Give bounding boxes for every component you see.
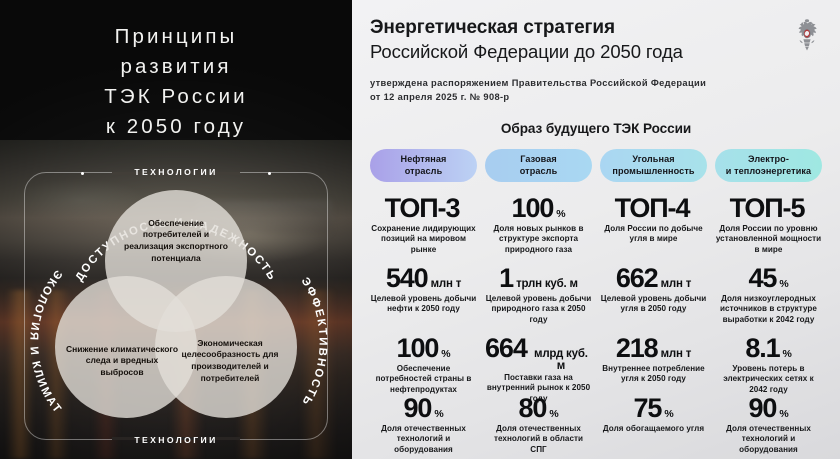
metric-coal-2-caption: Целевой уровень добычи угля в 2050 году xyxy=(600,294,707,315)
metric-gas-2-unit: трлн куб. м xyxy=(516,278,578,290)
metric-oil-2-unit: млн т xyxy=(431,278,462,290)
badge-coal-line-1: Угольная xyxy=(632,154,674,165)
badge-power-line-1: Электро- xyxy=(748,154,789,165)
metric-column-power: ТОП-5 Доля России по уровню установленно… xyxy=(715,193,822,443)
metric-oil-4-caption: Доля отечественных технологий и оборудов… xyxy=(370,424,477,455)
title-line-1: Принципы xyxy=(0,22,352,52)
metric-coal-4-value: 75 xyxy=(634,393,662,423)
metric-coal-3-unit: млн т xyxy=(661,348,692,360)
metric-power-4-value: 90 xyxy=(749,393,777,423)
badge-oil[interactable]: Нефтяная отрасль xyxy=(370,149,477,182)
metric-gas-2-value: 1 xyxy=(499,263,513,293)
frame-label-bottom: ТЕХНОЛОГИИ xyxy=(124,435,227,445)
metric-gas-3-value: 664 xyxy=(485,333,527,363)
metric-oil-2-value: 540 xyxy=(386,263,428,293)
metric-oil-1-caption: Сохранение лидирующих позиций на мировом… xyxy=(370,224,477,255)
venn-circle-availability-text: Обеспечение потребителей и реализация эк… xyxy=(105,218,247,264)
strategy-title-line-1: Энергетическая стратегия xyxy=(370,16,822,40)
metric-coal-1-value: ТОП-4 xyxy=(615,193,690,223)
metric-power-4: 90% Доля отечественных технологий и обор… xyxy=(715,393,822,443)
metric-coal-3-caption: Внутреннее потребление угля к 2050 году xyxy=(600,364,707,385)
industry-badges: Нефтяная отрасль Газовая отрасль Угольна… xyxy=(370,149,822,182)
metric-gas-2: 1трлн куб. м Целевой уровень добычи прир… xyxy=(485,263,592,333)
metric-oil-1: ТОП-3 Сохранение лидирующих позиций на м… xyxy=(370,193,477,263)
metric-coal-4-unit: % xyxy=(664,408,673,420)
metric-gas-3: 664млрд куб. м Поставки газа на внутренн… xyxy=(485,333,592,393)
badge-gas[interactable]: Газовая отрасль xyxy=(485,149,592,182)
left-panel: Принципы развития ТЭК России к 2050 году… xyxy=(0,0,352,459)
metric-gas-1-unit: % xyxy=(556,208,565,220)
badge-power[interactable]: Электро- и теплоэнергетика xyxy=(715,149,822,182)
title-line-2: развития xyxy=(0,52,352,82)
metric-coal-3: 218млн т Внутреннее потребление угля к 2… xyxy=(600,333,707,393)
metric-coal-1-caption: Доля России по добыче угля в мире xyxy=(600,224,707,245)
strategy-subtitle-line-1: утверждена распоряжением Правительства Р… xyxy=(370,77,822,91)
badge-gas-line-1: Газовая xyxy=(520,154,557,165)
strategy-subtitle-line-2: от 12 апреля 2025 г. № 908-р xyxy=(370,91,822,105)
metric-coal-4-caption: Доля обогащаемого угля xyxy=(600,424,707,434)
title-line-3: ТЭК России xyxy=(0,82,352,112)
frame-dot-right xyxy=(268,172,271,175)
metric-coal-3-value: 218 xyxy=(616,333,658,363)
badge-power-line-2: и теплоэнергетика xyxy=(726,166,811,177)
metric-oil-1-value: ТОП-3 xyxy=(385,193,460,223)
technology-frame: ТЕХНОЛОГИИ ТЕХНОЛОГИИ xyxy=(24,172,328,440)
metric-gas-3-unit: млрд куб. м xyxy=(530,348,592,372)
infographic-root: Принципы развития ТЭК России к 2050 году… xyxy=(0,0,840,459)
badge-oil-line-1: Нефтяная xyxy=(401,154,447,165)
metric-power-4-unit: % xyxy=(779,408,788,420)
metric-columns: ТОП-3 Сохранение лидирующих позиций на м… xyxy=(370,193,822,443)
strategy-title: Энергетическая стратегия Российской Феде… xyxy=(370,16,822,64)
metric-gas-1: 100% Доля новых рынков в структуре экспо… xyxy=(485,193,592,263)
metric-coal-4: 75% Доля обогащаемого угля xyxy=(600,393,707,443)
metric-power-2-value: 45 xyxy=(749,263,777,293)
metric-gas-2-caption: Целевой уровень добычи природного газа к… xyxy=(485,294,592,325)
metric-oil-3: 100% Обеспечение потребностей страны в н… xyxy=(370,333,477,393)
metric-coal-1: ТОП-4 Доля России по добыче угля в мире xyxy=(600,193,707,263)
metric-oil-4-value: 90 xyxy=(404,393,432,423)
metric-power-2-unit: % xyxy=(779,278,788,290)
venn-circle-economics-text: Экономическая целесообразность для произ… xyxy=(159,338,301,384)
metric-oil-2: 540млн т Целевой уровень добычи нефти к … xyxy=(370,263,477,333)
metric-power-2-caption: Доля низкоуглеродных источников в структ… xyxy=(715,294,822,325)
metric-oil-3-unit: % xyxy=(441,348,450,360)
metric-power-1-caption: Доля России по уровню установленной мощн… xyxy=(715,224,822,255)
metric-column-oil: ТОП-3 Сохранение лидирующих позиций на м… xyxy=(370,193,477,443)
badge-coal[interactable]: Угольная промышленность xyxy=(600,149,707,182)
metric-gas-4: 80% Доля отечественных технологий в обла… xyxy=(485,393,592,443)
metric-power-1-value: ТОП-5 xyxy=(730,193,805,223)
metric-oil-4-unit: % xyxy=(434,408,443,420)
metric-power-3-unit: % xyxy=(783,348,792,360)
russian-coat-of-arms-icon xyxy=(792,18,822,54)
strategy-subtitle: утверждена распоряжением Правительства Р… xyxy=(370,77,822,104)
right-panel: Энергетическая стратегия Российской Феде… xyxy=(352,0,840,459)
left-panel-title: Принципы развития ТЭК России к 2050 году xyxy=(0,22,352,142)
metric-coal-2-unit: млн т xyxy=(661,278,692,290)
title-line-4: к 2050 году xyxy=(0,112,352,142)
metric-column-coal: ТОП-4 Доля России по добыче угля в мире … xyxy=(600,193,707,443)
metric-gas-4-value: 80 xyxy=(519,393,547,423)
frame-label-top: ТЕХНОЛОГИИ xyxy=(124,167,227,177)
metric-power-3-value: 8.1 xyxy=(745,333,779,363)
metric-power-3-caption: Уровень потерь в электрических сетях к 2… xyxy=(715,364,822,395)
section-title: Образ будущего ТЭК России xyxy=(370,121,822,136)
metric-power-4-caption: Доля отечественных технологий и оборудов… xyxy=(715,424,822,455)
metric-oil-2-caption: Целевой уровень добычи нефти к 2050 году xyxy=(370,294,477,315)
metric-power-2: 45% Доля низкоуглеродных источников в ст… xyxy=(715,263,822,333)
metric-power-1: ТОП-5 Доля России по уровню установленно… xyxy=(715,193,822,263)
metric-gas-4-caption: Доля отечественных технологий в области … xyxy=(485,424,592,455)
metric-coal-2-value: 662 xyxy=(616,263,658,293)
metric-oil-3-caption: Обеспечение потребностей страны в нефтеп… xyxy=(370,364,477,395)
metric-oil-3-value: 100 xyxy=(397,333,439,363)
strategy-title-line-2: Российской Федерации до 2050 года xyxy=(370,40,822,64)
metric-column-gas: 100% Доля новых рынков в структуре экспо… xyxy=(485,193,592,443)
metric-gas-4-unit: % xyxy=(549,408,558,420)
badge-oil-line-2: отрасль xyxy=(405,166,443,177)
metric-power-3: 8.1% Уровень потерь в электрических сетя… xyxy=(715,333,822,393)
metric-gas-1-value: 100 xyxy=(512,193,554,223)
metric-oil-4: 90% Доля отечественных технологий и обор… xyxy=(370,393,477,443)
frame-dot-left xyxy=(81,172,84,175)
badge-gas-line-2: отрасль xyxy=(520,166,558,177)
metric-gas-1-caption: Доля новых рынков в структуре экспорта п… xyxy=(485,224,592,255)
badge-coal-line-2: промышленность xyxy=(612,166,694,177)
metric-coal-2: 662млн т Целевой уровень добычи угля в 2… xyxy=(600,263,707,333)
